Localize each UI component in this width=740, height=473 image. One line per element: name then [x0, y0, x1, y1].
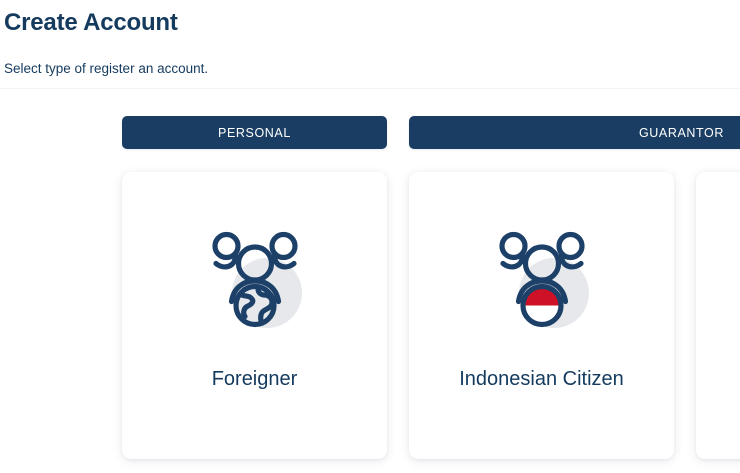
page-title: Create Account — [4, 8, 740, 38]
card-next-partial[interactable] — [696, 172, 740, 459]
card-label-foreigner: Foreigner — [212, 366, 298, 392]
page-header: Create Account Select type of register a… — [0, 0, 740, 78]
card-label-indonesian-citizen: Indonesian Citizen — [459, 366, 624, 392]
group-globe-icon — [194, 220, 316, 342]
tab-personal[interactable]: PERSONAL — [122, 116, 387, 149]
tab-guarantor[interactable]: GUARANTOR — [409, 116, 740, 149]
header-divider — [0, 88, 740, 89]
account-type-cards: Foreigner — [122, 172, 740, 459]
card-indonesian-citizen[interactable]: Indonesian Citizen — [409, 172, 674, 459]
page-subtitle: Select type of register an account. — [4, 38, 740, 78]
account-type-tabs: PERSONAL GUARANTOR — [122, 116, 740, 149]
create-account-page: Create Account Select type of register a… — [0, 0, 740, 473]
group-indonesia-flag-icon — [481, 220, 603, 342]
card-foreigner[interactable]: Foreigner — [122, 172, 387, 459]
